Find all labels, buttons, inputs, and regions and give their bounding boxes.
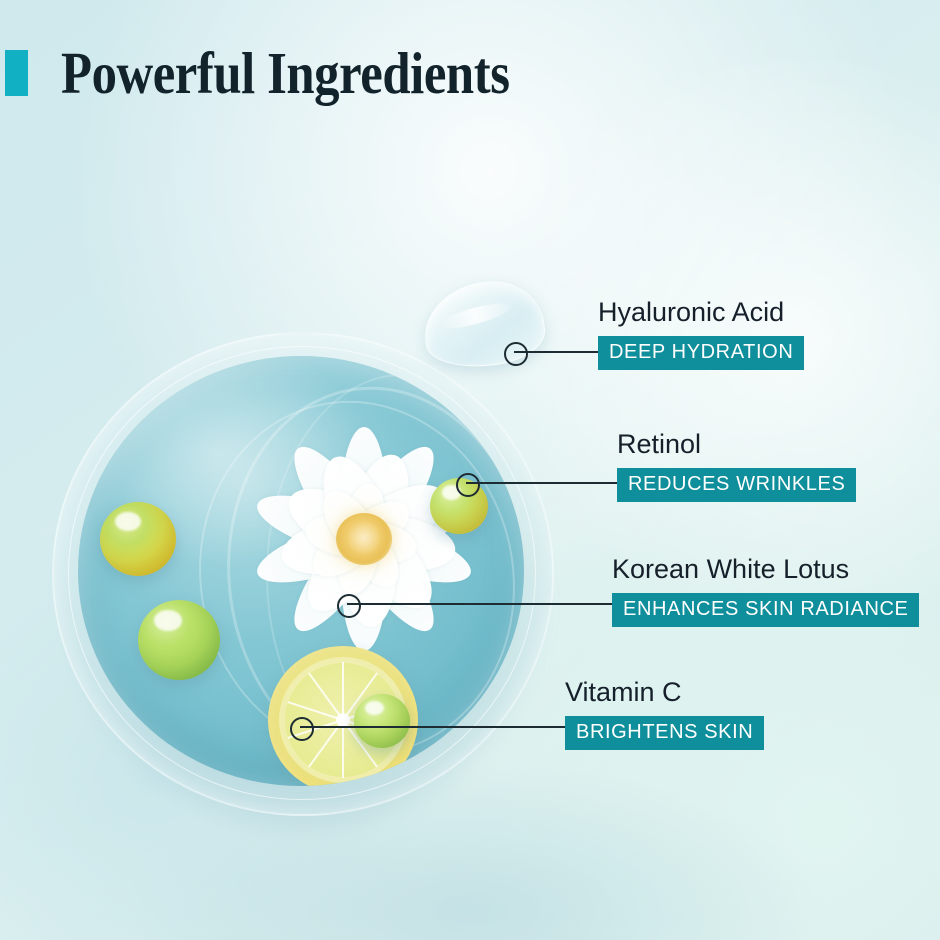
gel-bead-green-small xyxy=(354,694,410,748)
callout-title-vitamin-c: Vitamin C xyxy=(565,678,764,708)
callout-title-retinol: Retinol xyxy=(617,430,856,460)
lemon-segment-line xyxy=(342,720,344,778)
page-title: Powerful Ingredients xyxy=(0,40,583,106)
ingredients-infographic: Powerful Ingredients xyxy=(0,0,940,940)
callout-badge-hyaluronic-acid: DEEP HYDRATION xyxy=(598,336,804,370)
callout-hyaluronic-acid: Hyaluronic Acid DEEP HYDRATION xyxy=(598,298,804,370)
gel-bead-yellow-small xyxy=(430,478,488,534)
lotus-center xyxy=(336,513,392,565)
dish-water xyxy=(78,356,524,786)
callout-title-korean-white-lotus: Korean White Lotus xyxy=(612,555,919,585)
callout-title-hyaluronic-acid: Hyaluronic Acid xyxy=(598,298,804,328)
gel-bead-green xyxy=(138,600,220,680)
callout-badge-vitamin-c: BRIGHTENS SKIN xyxy=(565,716,764,750)
page-title-text: Powerful Ingredients xyxy=(61,39,510,108)
callout-badge-korean-white-lotus: ENHANCES SKIN RADIANCE xyxy=(612,593,919,627)
title-accent-bar xyxy=(5,50,28,96)
callout-retinol: Retinol REDUCES WRINKLES xyxy=(617,430,856,502)
callout-vitamin-c: Vitamin C BRIGHTENS SKIN xyxy=(565,678,764,750)
petri-dish-scene xyxy=(48,322,558,822)
callout-badge-retinol: REDUCES WRINKLES xyxy=(617,468,856,502)
lemon-core xyxy=(336,713,350,727)
gel-bead-yellow xyxy=(100,502,176,576)
lemon-segment-line xyxy=(342,662,344,720)
lemon-segment-line xyxy=(308,719,344,767)
callout-korean-white-lotus: Korean White Lotus ENHANCES SKIN RADIANC… xyxy=(612,555,919,627)
lotus-flower xyxy=(230,414,498,664)
